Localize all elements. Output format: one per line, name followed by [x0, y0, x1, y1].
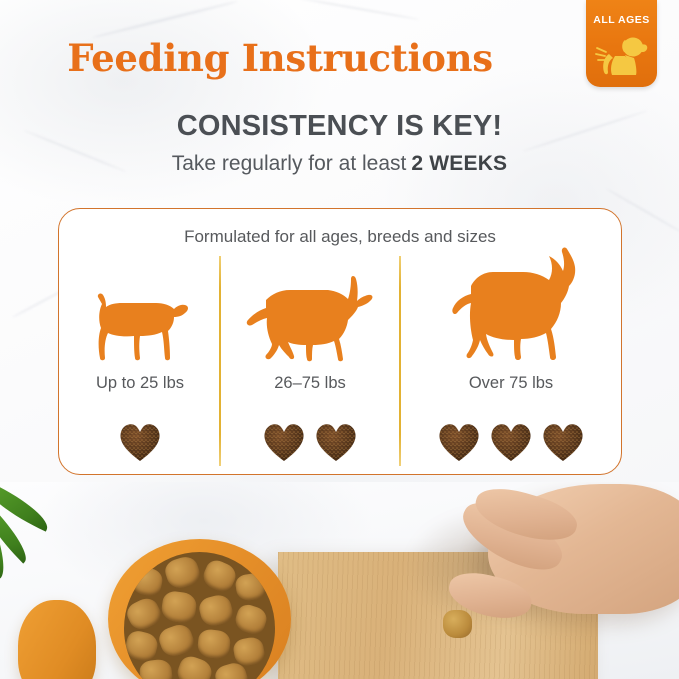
- kibble-heart-icon: [488, 419, 534, 463]
- kibble-piece: [200, 557, 240, 595]
- size-label: Up to 25 lbs: [61, 374, 219, 393]
- kibble-piece: [130, 565, 165, 598]
- size-label: Over 75 lbs: [401, 374, 621, 393]
- tagline-emphasis: 2 WEEKS: [411, 152, 507, 175]
- size-column-small: Up to 25 lbs: [61, 249, 219, 471]
- size-column-medium: 26–75 lbs: [221, 249, 399, 471]
- kibble-row-medium: [221, 419, 399, 463]
- tagline-emphasis-wrap: 2 WEEKS: [411, 152, 507, 176]
- kibble-piece: [156, 621, 197, 660]
- marble-vein: [92, 0, 238, 39]
- subtitle: CONSISTENCY IS KEY!: [0, 110, 679, 143]
- small-dog-icon: [88, 290, 192, 364]
- tagline: Take regularly for at least2 WEEKS: [0, 152, 679, 176]
- kibble-row-large: [401, 419, 621, 463]
- kibble-piece: [197, 628, 232, 659]
- feeding-chart-card: Formulated for all ages, breeds and size…: [58, 208, 622, 475]
- feeding-instructions-infographic: ALL AGES: [0, 0, 679, 679]
- bowl-interior: [124, 552, 275, 679]
- badge-label: ALL AGES: [586, 14, 657, 26]
- kibble-piece: [162, 554, 202, 592]
- orange-scoop: [18, 600, 96, 679]
- all-ages-badge: ALL AGES: [586, 0, 657, 87]
- plant-leaf: [0, 482, 55, 532]
- card-heading: Formulated for all ages, breeds and size…: [59, 227, 621, 247]
- kibble-heart-icon: [313, 419, 359, 463]
- kibble-heart-icon: [540, 419, 586, 463]
- size-column-large: Over 75 lbs: [401, 249, 621, 471]
- large-dog-icon: [441, 246, 581, 364]
- kibble-heart-icon: [436, 419, 482, 463]
- page-title: Feeding Instructions: [0, 36, 560, 80]
- hand-drawn-underline: [408, 178, 526, 187]
- tagline-prefix: Take regularly for at least: [172, 152, 407, 175]
- kibble-heart-icon: [117, 419, 163, 463]
- sitting-dog-icon: [595, 30, 649, 80]
- marble-vein: [301, 0, 420, 20]
- medium-dog-icon: [244, 264, 376, 364]
- kibble-piece: [234, 572, 266, 602]
- kibble-bowl: [108, 539, 291, 679]
- kibble-piece: [160, 590, 198, 624]
- product-photo: [0, 482, 679, 679]
- held-kibble-piece: [443, 610, 472, 638]
- kibble-piece: [233, 602, 270, 637]
- size-label: 26–75 lbs: [221, 374, 399, 393]
- kibble-row-small: [61, 419, 219, 463]
- kibble-piece: [139, 658, 174, 679]
- hand-holding-kibble: [430, 482, 679, 658]
- kibble-piece: [197, 593, 235, 629]
- kibble-piece: [124, 594, 165, 633]
- kibble-piece: [124, 629, 160, 664]
- kibble-heart-icon: [261, 419, 307, 463]
